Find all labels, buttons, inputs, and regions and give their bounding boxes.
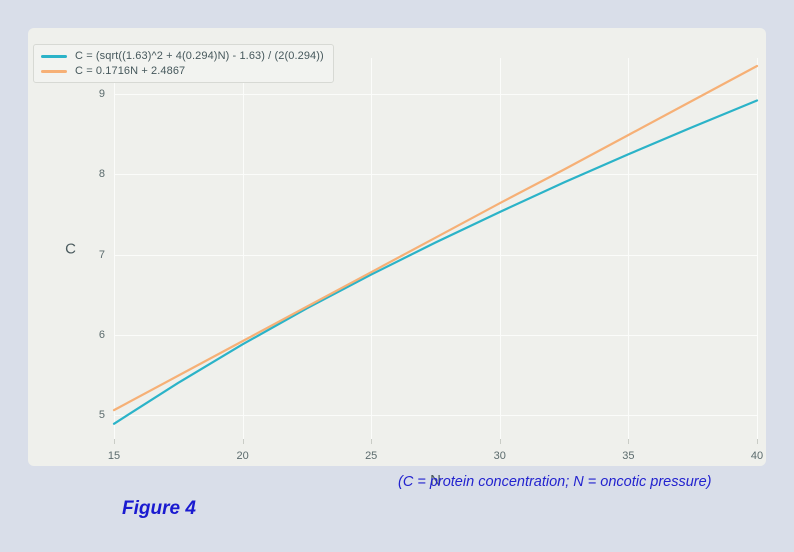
figure-caption: (C = protein concentration; N = oncotic …: [398, 474, 712, 490]
legend-label-curve: C = (sqrt((1.63)^2 + 4(0.294)N) - 1.63) …: [75, 50, 324, 62]
figure-label: Figure 4: [122, 498, 196, 520]
series-path-line: [114, 66, 757, 410]
legend-label-line: C = 0.1716N + 2.4867: [75, 65, 185, 77]
x-tick-mark: [628, 439, 629, 444]
x-tick-mark: [757, 439, 758, 444]
figure-container: 56789152025303540 N C C = (sqrt((1.63)^2…: [0, 0, 794, 552]
x-tick-label: 20: [236, 450, 248, 462]
y-axis-title: C: [65, 240, 76, 257]
x-tick-label: 25: [365, 450, 377, 462]
gridline-vertical: [757, 58, 758, 439]
chart-legend[interactable]: C = (sqrt((1.63)^2 + 4(0.294)N) - 1.63) …: [33, 44, 334, 83]
x-tick-mark: [371, 439, 372, 444]
x-tick-mark: [243, 439, 244, 444]
x-tick-label: 40: [751, 450, 763, 462]
series-lines: [114, 58, 757, 439]
x-tick-mark: [114, 439, 115, 444]
x-tick-label: 30: [494, 450, 506, 462]
x-tick-label: 15: [108, 450, 120, 462]
y-tick-label: 6: [99, 329, 105, 341]
plot-area: 56789152025303540 N C: [114, 58, 757, 439]
legend-swatch-line: [41, 70, 67, 73]
x-tick-label: 35: [622, 450, 634, 462]
series-path-curve: [114, 101, 757, 424]
y-tick-label: 5: [99, 409, 105, 421]
legend-item-line[interactable]: C = 0.1716N + 2.4867: [41, 65, 324, 77]
legend-swatch-curve: [41, 55, 67, 58]
x-tick-mark: [500, 439, 501, 444]
plot-card: 56789152025303540 N C C = (sqrt((1.63)^2…: [28, 28, 766, 466]
y-tick-label: 9: [99, 88, 105, 100]
legend-item-curve[interactable]: C = (sqrt((1.63)^2 + 4(0.294)N) - 1.63) …: [41, 50, 324, 62]
y-tick-label: 8: [99, 168, 105, 180]
y-tick-label: 7: [99, 249, 105, 261]
